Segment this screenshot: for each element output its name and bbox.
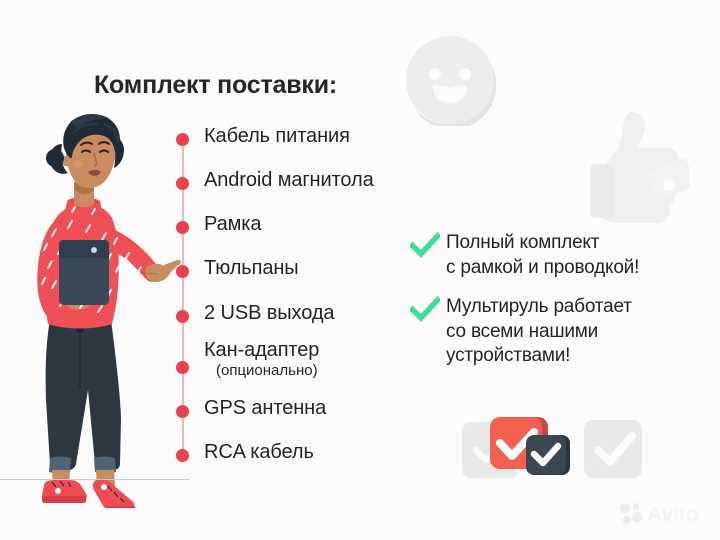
list-item-sublabel: (опционально) [216, 362, 318, 379]
floor-line [0, 479, 190, 480]
promo-image-canvas: Комплект поставки: Кабель питания Androi… [0, 0, 720, 540]
list-item-label: GPS антенна [204, 397, 326, 420]
benefit-line-1: Мультируль работает [446, 294, 632, 319]
benefit-line-1: Полный комплект [446, 230, 599, 255]
avito-wordmark: Avito [647, 503, 699, 526]
list-item-label: Рамка [204, 213, 261, 236]
check-icon [410, 296, 440, 326]
list-item-label: Android магнитола [204, 169, 374, 192]
list-item-label: Тюльпаны [204, 257, 299, 280]
list-item-label: RCA кабель [204, 441, 314, 464]
benefit-line-2: с рамкой и проводкой! [446, 255, 639, 280]
smiley-face-icon [404, 34, 496, 126]
list-item-label: 2 USB выхода [204, 302, 334, 325]
benefit-line-3: устройствами! [446, 343, 570, 368]
list-item-label: Кабель питания [204, 125, 350, 148]
page-title: Комплект поставки: [94, 71, 337, 100]
avito-watermark: Avito [618, 500, 714, 526]
list-item-label: Кан-адаптер [204, 339, 319, 362]
check-icon [410, 232, 440, 262]
woman-pointing-illustration [8, 108, 188, 508]
thumbs-up-icon [578, 108, 690, 226]
benefit-line-2: со всеми нашими [446, 319, 598, 344]
checkbox-cluster-decoration [462, 412, 642, 494]
checkbox-grey-right [584, 420, 642, 478]
